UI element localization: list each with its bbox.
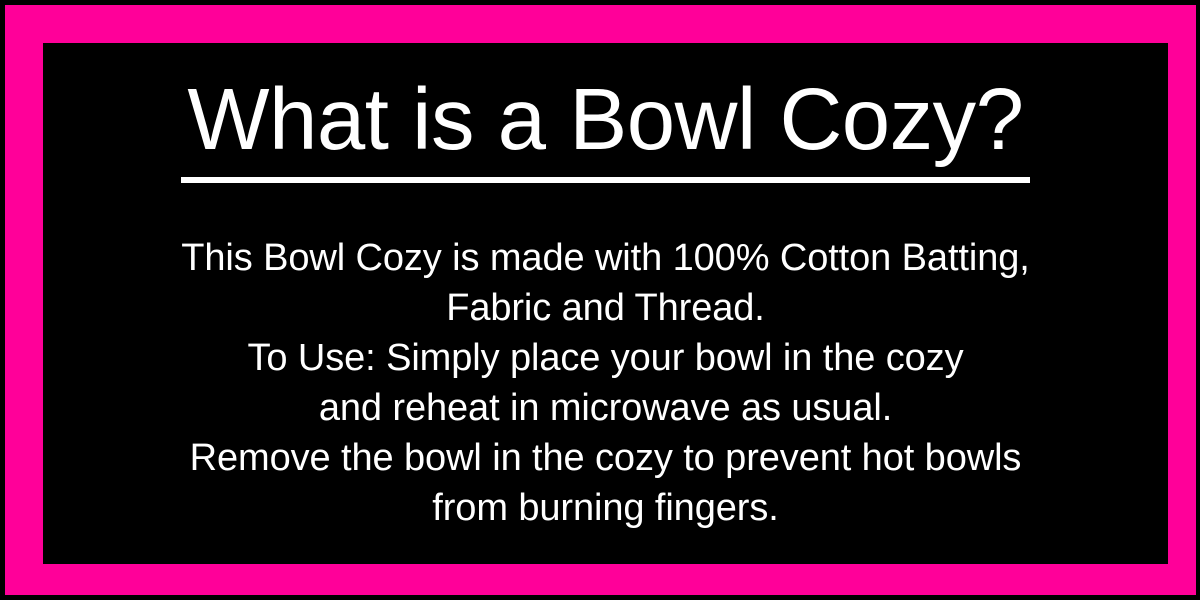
body-line: Fabric and Thread. xyxy=(43,283,1168,333)
body-line: from burning fingers. xyxy=(43,483,1168,533)
magenta-border-frame: What is a Bowl Cozy? This Bowl Cozy is m… xyxy=(5,5,1196,595)
body-line: Remove the bowl in the cozy to prevent h… xyxy=(43,433,1168,483)
content-card: What is a Bowl Cozy? This Bowl Cozy is m… xyxy=(43,43,1168,564)
page-title: What is a Bowl Cozy? xyxy=(181,73,1029,183)
title-block: What is a Bowl Cozy? xyxy=(43,73,1168,183)
body-line: This Bowl Cozy is made with 100% Cotton … xyxy=(43,233,1168,283)
body-line: To Use: Simply place your bowl in the co… xyxy=(43,333,1168,383)
body-text-block: This Bowl Cozy is made with 100% Cotton … xyxy=(43,233,1168,533)
poster: What is a Bowl Cozy? This Bowl Cozy is m… xyxy=(0,0,1200,600)
body-line: and reheat in microwave as usual. xyxy=(43,383,1168,433)
